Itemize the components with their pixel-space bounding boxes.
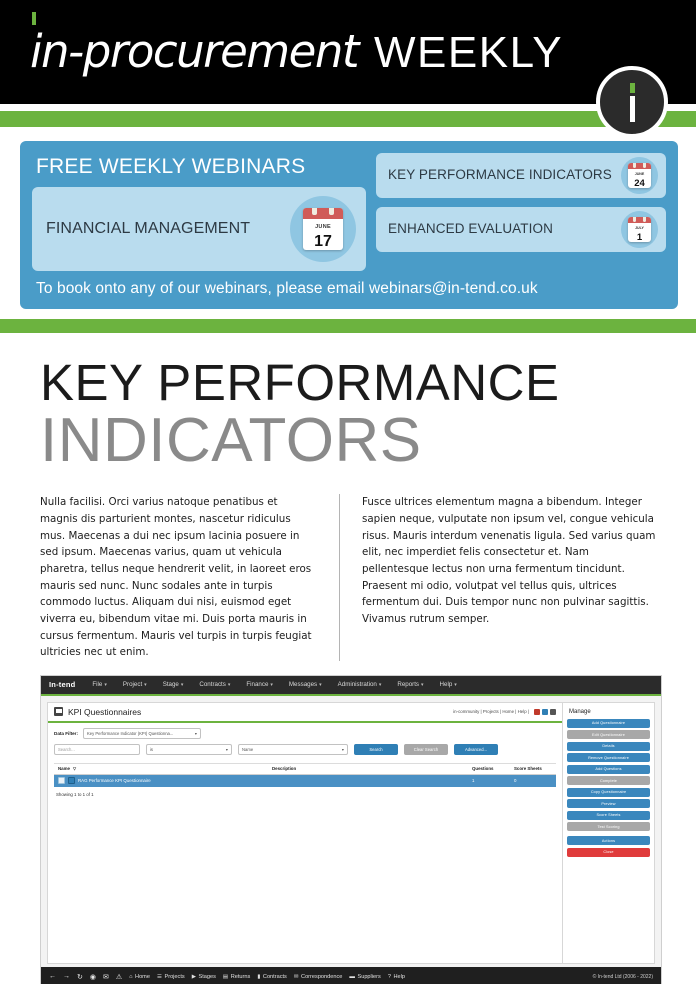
app-menubar: In-tend File▾ Project▾ Stage▾ Contracts▾… <box>41 676 661 696</box>
row-edit-icon[interactable] <box>68 777 75 784</box>
column-header-questions[interactable]: Questions <box>472 766 514 771</box>
chevron-down-icon: ▾ <box>342 747 344 752</box>
chevron-down-icon: ▾ <box>228 682 231 688</box>
table-row-name-cell: RAG Performance KPI Questionnaire <box>54 777 272 784</box>
complete-button[interactable]: Complete <box>567 776 650 785</box>
in-tend-logo-badge <box>596 66 668 138</box>
menu-item-messages-label: Messages <box>289 681 317 688</box>
calendar-top-bar <box>628 163 651 169</box>
brand-tick-icon <box>32 12 36 25</box>
mail-icon[interactable]: ✉ <box>103 973 109 981</box>
calendar-ring-left-icon <box>633 217 636 222</box>
test-scoring-button[interactable]: Test Scoring <box>567 822 650 831</box>
menu-item-messages[interactable]: Messages▾ <box>282 679 329 690</box>
logo-stem-icon <box>630 96 635 122</box>
menu-item-finance[interactable]: Finance▾ <box>239 679 280 690</box>
column-header-score-sheets[interactable]: Score Sheets <box>514 766 556 771</box>
kpi-panel-main: KPI Questionnaires in-community | Projec… <box>48 703 562 963</box>
help-icon: ? <box>388 974 391 980</box>
statusbar-contracts-label: Contracts <box>263 974 287 980</box>
data-filter-select[interactable]: Key Performance Indicator (KPI) Question… <box>83 728 201 739</box>
chevron-down-icon: ▾ <box>181 682 184 688</box>
app-body: KPI Questionnaires in-community | Projec… <box>41 696 661 984</box>
search-field-select[interactable]: Name ▾ <box>238 744 348 755</box>
chevron-down-icon: ▾ <box>379 682 382 688</box>
article-title-line1: KEY PERFORMANCE <box>40 357 676 409</box>
remove-questionnaire-button[interactable]: Remove Questionnaire <box>567 753 650 762</box>
document-icon[interactable] <box>550 709 556 715</box>
print-icon[interactable] <box>534 709 540 715</box>
masthead: in-procurement WEEKLY <box>0 0 696 104</box>
calendar-month: JUNE <box>628 173 651 177</box>
table-row-score-sheets-cell: 0 <box>514 778 556 783</box>
menu-item-project[interactable]: Project▾ <box>116 679 154 690</box>
breadcrumb-icons <box>534 709 556 715</box>
chevron-down-icon: ▾ <box>319 682 322 688</box>
globe-icon[interactable]: ◉ <box>90 973 96 981</box>
green-divider-bottom <box>0 319 696 333</box>
calendar-month: JULY <box>628 227 651 231</box>
statusbar-correspondence-label: Correspondence <box>301 974 342 980</box>
calendar-ring-left-icon <box>312 208 317 215</box>
menu-item-reports[interactable]: Reports▾ <box>390 679 430 690</box>
search-button[interactable]: Search <box>354 744 398 755</box>
article-column-right: Fusce ultrices elementum magna a bibendu… <box>362 494 658 661</box>
calendar-icon: JUNE 17 <box>303 208 343 250</box>
brand-name-primary: in-procurement <box>30 29 358 74</box>
chevron-down-icon: ▾ <box>454 682 457 688</box>
calendar-icon: JULY 1 <box>628 217 651 242</box>
statusbar-projects-link[interactable]: ☰Projects <box>157 974 185 980</box>
webinar-list-column: KEY PERFORMANCE INDICATORS JUNE 24 <box>376 153 666 271</box>
webinar-card-evaluation[interactable]: ENHANCED EVALUATION JULY 1 <box>376 207 666 252</box>
webinar-top-row: FREE WEEKLY WEBINARS FINANCIAL MANAGEMEN… <box>32 153 666 271</box>
statusbar-correspondence-link[interactable]: ✉Correspondence <box>294 974 343 980</box>
brand-name-secondary: WEEKLY <box>374 31 563 75</box>
webinar-featured-column: FREE WEEKLY WEBINARS FINANCIAL MANAGEMEN… <box>32 153 366 271</box>
menu-item-project-label: Project <box>123 681 142 688</box>
calendar-month: JUNE <box>303 225 343 231</box>
statusbar-suppliers-link[interactable]: ▬Suppliers <box>349 974 380 980</box>
search-operator-value: is <box>150 747 153 752</box>
newsletter-page: in-procurement WEEKLY FREE WEEKLY WEBINA… <box>0 0 696 984</box>
brand-logo: in-procurement WEEKLY <box>30 29 563 75</box>
statusbar-help-link[interactable]: ?Help <box>388 974 405 980</box>
questionnaire-icon <box>54 707 63 716</box>
statusbar-help-label: Help <box>393 974 405 980</box>
webinar-booking-text: To book onto any of our webinars, please… <box>36 280 666 298</box>
column-header-name[interactable]: Name ▽ <box>54 766 272 771</box>
calendar-ring-right-icon <box>329 208 334 215</box>
statusbar-projects-label: Projects <box>164 974 184 980</box>
details-button[interactable]: Details <box>567 742 650 751</box>
manage-sidebar: Manage Add Questionnaire Edit Questionna… <box>562 703 654 963</box>
statusbar-stages-label: Stages <box>199 974 216 980</box>
webinar-card-featured[interactable]: FINANCIAL MANAGEMENT JUNE 17 <box>32 187 366 271</box>
calendar-day: 17 <box>303 234 343 250</box>
webinar-card-evaluation-label: ENHANCED EVALUATION <box>388 221 553 237</box>
statusbar-returns-link[interactable]: ▤Returns <box>223 974 250 980</box>
refresh-icon[interactable]: ↻ <box>77 973 83 981</box>
article-columns: Nulla facilisi. Orci varius natoque pena… <box>0 472 696 661</box>
preview-button[interactable]: Preview <box>567 799 650 808</box>
calendar-day: 24 <box>628 179 651 189</box>
score-sheets-button[interactable]: Score Sheets <box>567 811 650 820</box>
menu-item-file[interactable]: File▾ <box>85 679 114 690</box>
app-screenshot-zone: In-tend File▾ Project▾ Stage▾ Contracts▾… <box>0 661 696 984</box>
calendar-circle-featured: JUNE 17 <box>290 196 356 262</box>
webinar-card-featured-label: FINANCIAL MANAGEMENT <box>46 219 250 239</box>
edit-questionnaire-button[interactable]: Edit Questionnaire <box>567 730 650 739</box>
calendar-icon: JUNE 24 <box>628 163 651 188</box>
chevron-down-icon: ▾ <box>226 747 228 752</box>
copyright-text: © In-tend Ltd (2006 - 2022) <box>593 974 653 980</box>
stages-icon: ▶ <box>192 974 196 980</box>
contracts-icon: ▮ <box>257 974 260 980</box>
webinar-zone: FREE WEEKLY WEBINARS FINANCIAL MANAGEMEN… <box>0 127 696 309</box>
data-filter-label: Data Filter: <box>54 731 78 736</box>
logo-dot-icon <box>630 83 635 93</box>
back-icon[interactable]: ← <box>49 973 56 980</box>
menu-item-help-label: Help <box>440 681 453 688</box>
calendar-ring-right-icon <box>643 217 646 222</box>
column-header-description[interactable]: Description <box>272 766 472 771</box>
close-button[interactable]: Close <box>567 848 650 857</box>
chevron-down-icon: ▾ <box>144 682 147 688</box>
chevron-down-icon: ▾ <box>104 682 107 688</box>
statusbar-suppliers-label: Suppliers <box>357 974 380 980</box>
menu-item-help[interactable]: Help▾ <box>433 679 464 690</box>
menu-item-finance-label: Finance <box>246 681 268 688</box>
advanced-search-button[interactable]: Advanced... <box>454 744 498 755</box>
kpi-panel: KPI Questionnaires in-community | Projec… <box>47 702 655 964</box>
correspondence-icon: ✉ <box>294 974 299 980</box>
row-document-icon[interactable] <box>58 777 65 784</box>
webinar-card-kpi[interactable]: KEY PERFORMANCE INDICATORS JUNE 24 <box>376 153 666 198</box>
table-row[interactable]: RAG Performance KPI Questionnaire 1 0 <box>54 775 556 787</box>
calendar-ring-left-icon <box>633 163 636 168</box>
calendar-ring-right-icon <box>643 163 646 168</box>
data-filter-value: Key Performance Indicator (KPI) Question… <box>87 731 173 736</box>
menu-item-contracts-label: Contracts <box>199 681 225 688</box>
calendar-circle-evaluation: JULY 1 <box>621 211 658 248</box>
search-operator-select[interactable]: is ▾ <box>146 744 232 755</box>
menu-item-stage-label: Stage <box>163 681 179 688</box>
kpi-panel-header: KPI Questionnaires in-community | Projec… <box>48 703 562 723</box>
chevron-down-icon: ▾ <box>270 682 273 688</box>
statusbar-stages-link[interactable]: ▶Stages <box>192 974 216 980</box>
chevron-down-icon: ▾ <box>195 731 197 736</box>
chevron-down-icon: ▾ <box>421 682 424 688</box>
webinar-card-kpi-label: KEY PERFORMANCE INDICATORS <box>388 167 612 183</box>
breadcrumb[interactable]: in-community | Projects | Home | Help | <box>453 709 556 715</box>
suppliers-icon: ▬ <box>349 974 355 980</box>
manage-title: Manage <box>567 707 650 719</box>
questionnaires-table: Name ▽ Description Questions Score Sheet… <box>54 763 556 787</box>
table-row-questions-cell: 1 <box>472 778 514 783</box>
menubar-brand[interactable]: In-tend <box>49 680 75 689</box>
search-field-value: Name <box>242 747 253 752</box>
export-icon[interactable] <box>542 709 548 715</box>
calendar-top-bar <box>303 208 343 219</box>
add-questions-button[interactable]: Add Questions <box>567 765 650 774</box>
webinar-heading: FREE WEEKLY WEBINARS <box>36 155 366 179</box>
table-showing-text: Showing 1 to 1 of 1 <box>48 787 562 797</box>
menu-item-contracts[interactable]: Contracts▾ <box>192 679 237 690</box>
home-icon: ⌂ <box>129 974 132 980</box>
green-divider-top <box>0 111 696 127</box>
copy-questionnaire-button[interactable]: Copy Questionnaire <box>567 788 650 797</box>
calendar-top-bar <box>628 217 651 223</box>
kpi-panel-header-left: KPI Questionnaires <box>54 707 141 717</box>
menu-item-administration[interactable]: Administration▾ <box>331 679 389 690</box>
menu-item-reports-label: Reports <box>397 681 419 688</box>
article-title-zone: KEY PERFORMANCE INDICATORS <box>0 333 696 472</box>
table-header-row: Name ▽ Description Questions Score Sheet… <box>54 764 556 775</box>
article-title-line2: INDICATORS <box>40 409 676 472</box>
warning-icon[interactable]: ⚠ <box>116 973 122 981</box>
menu-item-file-label: File <box>92 681 102 688</box>
returns-icon: ▤ <box>223 974 228 980</box>
calendar-circle-kpi: JUNE 24 <box>621 157 658 194</box>
statusbar-returns-label: Returns <box>231 974 251 980</box>
table-row-name-label: RAG Performance KPI Questionnaire <box>78 778 151 783</box>
data-filter-row: Data Filter: Key Performance Indicator (… <box>48 723 562 741</box>
statusbar-contracts-link[interactable]: ▮Contracts <box>257 974 287 980</box>
app-screenshot: In-tend File▾ Project▾ Stage▾ Contracts▾… <box>40 675 662 984</box>
webinar-panel: FREE WEEKLY WEBINARS FINANCIAL MANAGEMEN… <box>20 141 678 309</box>
add-questionnaire-button[interactable]: Add Questionnaire <box>567 719 650 728</box>
webinar-gap <box>0 309 696 319</box>
menu-item-stage[interactable]: Stage▾ <box>156 679 191 690</box>
statusbar-home-link[interactable]: ⌂Home <box>129 974 150 980</box>
clear-search-button[interactable]: Clear Search <box>404 744 448 755</box>
page-title: KPI Questionnaires <box>68 707 141 717</box>
column-header-name-label: Name <box>58 766 70 771</box>
article-column-left: Nulla facilisi. Orci varius natoque pena… <box>40 494 340 661</box>
actions-button[interactable]: Actions <box>567 836 650 845</box>
search-row: Search... is ▾ Name ▾ Search Clear Searc… <box>48 741 562 759</box>
forward-icon[interactable]: → <box>63 973 70 980</box>
masthead-gap <box>0 104 696 111</box>
search-input[interactable]: Search... <box>54 744 140 755</box>
breadcrumb-text: in-community | Projects | Home | Help | <box>453 709 529 714</box>
statusbar-home-label: Home <box>135 974 150 980</box>
app-statusbar: ← → ↻ ◉ ✉ ⚠ ⌂Home ☰Projects ▶Stages ▤Ret… <box>41 967 661 984</box>
sort-caret-icon: ▽ <box>73 766 76 771</box>
menu-item-administration-label: Administration <box>338 681 377 688</box>
calendar-day: 1 <box>628 233 651 243</box>
projects-icon: ☰ <box>157 974 162 980</box>
